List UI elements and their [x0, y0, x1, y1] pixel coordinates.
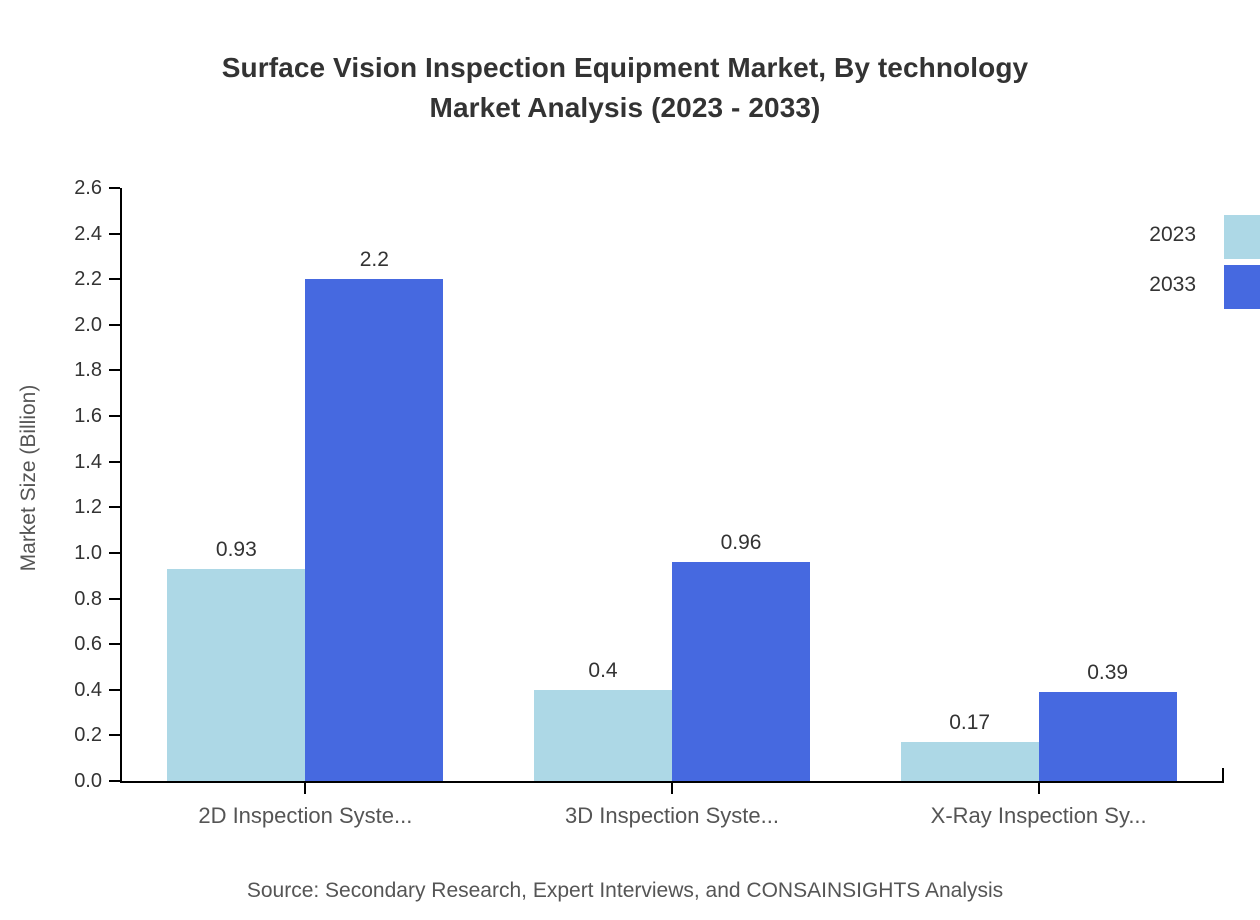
bar-value-label: 0.96 [672, 532, 810, 553]
y-tick-mark [109, 324, 120, 326]
y-tick-mark [109, 369, 120, 371]
bar-2033-1[interactable] [305, 279, 443, 781]
y-tick-mark [109, 187, 120, 189]
y-tick-label: 1.0 [20, 543, 102, 563]
y-tick-mark [109, 233, 120, 235]
y-tick-mark [109, 734, 120, 736]
y-tick-label: 2.2 [20, 269, 102, 289]
y-tick-mark [109, 780, 120, 782]
y-tick-label: 2.6 [20, 178, 102, 198]
bar-2023-2[interactable] [534, 690, 672, 781]
y-tick-label: 1.4 [20, 452, 102, 472]
bar-value-label: 2.2 [305, 249, 443, 270]
bar-value-label: 0.93 [167, 539, 305, 560]
chart-title-line-2: Market Analysis (2023 - 2033) [0, 88, 1250, 128]
y-tick-label: 1.6 [20, 406, 102, 426]
chart-figure: Surface Vision Inspection Equipment Mark… [0, 0, 1260, 920]
x-tick-label: 3D Inspection Syste... [492, 804, 852, 828]
x-tick-mark [671, 783, 673, 794]
bar-value-label: 0.39 [1039, 662, 1177, 683]
y-tick-label: 2.0 [20, 315, 102, 335]
plot-area: 0.00.20.40.60.81.01.21.41.61.82.02.22.42… [122, 188, 1222, 781]
legend-swatch [1224, 215, 1260, 259]
y-tick-mark [109, 689, 120, 691]
y-axis-spine [120, 188, 122, 781]
y-tick-mark [109, 506, 120, 508]
bar-2033-3[interactable] [1039, 692, 1177, 781]
y-tick-mark [109, 643, 120, 645]
y-tick-label: 0.0 [20, 771, 102, 791]
y-tick-mark [109, 278, 120, 280]
y-tick-label: 0.8 [20, 589, 102, 609]
y-tick-mark [109, 461, 120, 463]
legend-swatch [1224, 265, 1260, 309]
y-tick-mark [109, 415, 120, 417]
bar-2023-1[interactable] [167, 569, 305, 781]
y-tick-mark [109, 552, 120, 554]
bar-value-label: 0.17 [901, 712, 1039, 733]
legend-label: 2023 [1149, 224, 1196, 245]
y-tick-label: 0.2 [20, 725, 102, 745]
y-tick-mark [109, 598, 120, 600]
x-tick-mark [304, 783, 306, 794]
chart-title: Surface Vision Inspection Equipment Mark… [0, 48, 1260, 128]
chart-title-line-1: Surface Vision Inspection Equipment Mark… [0, 48, 1250, 88]
legend-item-2033[interactable]: 2033 [1130, 264, 1260, 314]
y-tick-label: 0.6 [20, 634, 102, 654]
chart-legend: 20232033 [1130, 214, 1260, 314]
y-tick-label: 1.8 [20, 360, 102, 380]
y-tick-label: 0.4 [20, 680, 102, 700]
bar-2033-2[interactable] [672, 562, 810, 781]
legend-label: 2033 [1149, 274, 1196, 295]
x-tick-mark [1038, 783, 1040, 794]
legend-item-2023[interactable]: 2023 [1130, 214, 1260, 264]
bar-2023-3[interactable] [901, 742, 1039, 781]
bar-value-label: 0.4 [534, 660, 672, 681]
right-axis-spine [1222, 768, 1224, 783]
x-tick-label: X-Ray Inspection Sy... [859, 804, 1219, 828]
x-tick-label: 2D Inspection Syste... [125, 804, 485, 828]
y-tick-label: 1.2 [20, 497, 102, 517]
y-tick-label: 2.4 [20, 224, 102, 244]
source-note: Source: Secondary Research, Expert Inter… [0, 879, 1260, 903]
